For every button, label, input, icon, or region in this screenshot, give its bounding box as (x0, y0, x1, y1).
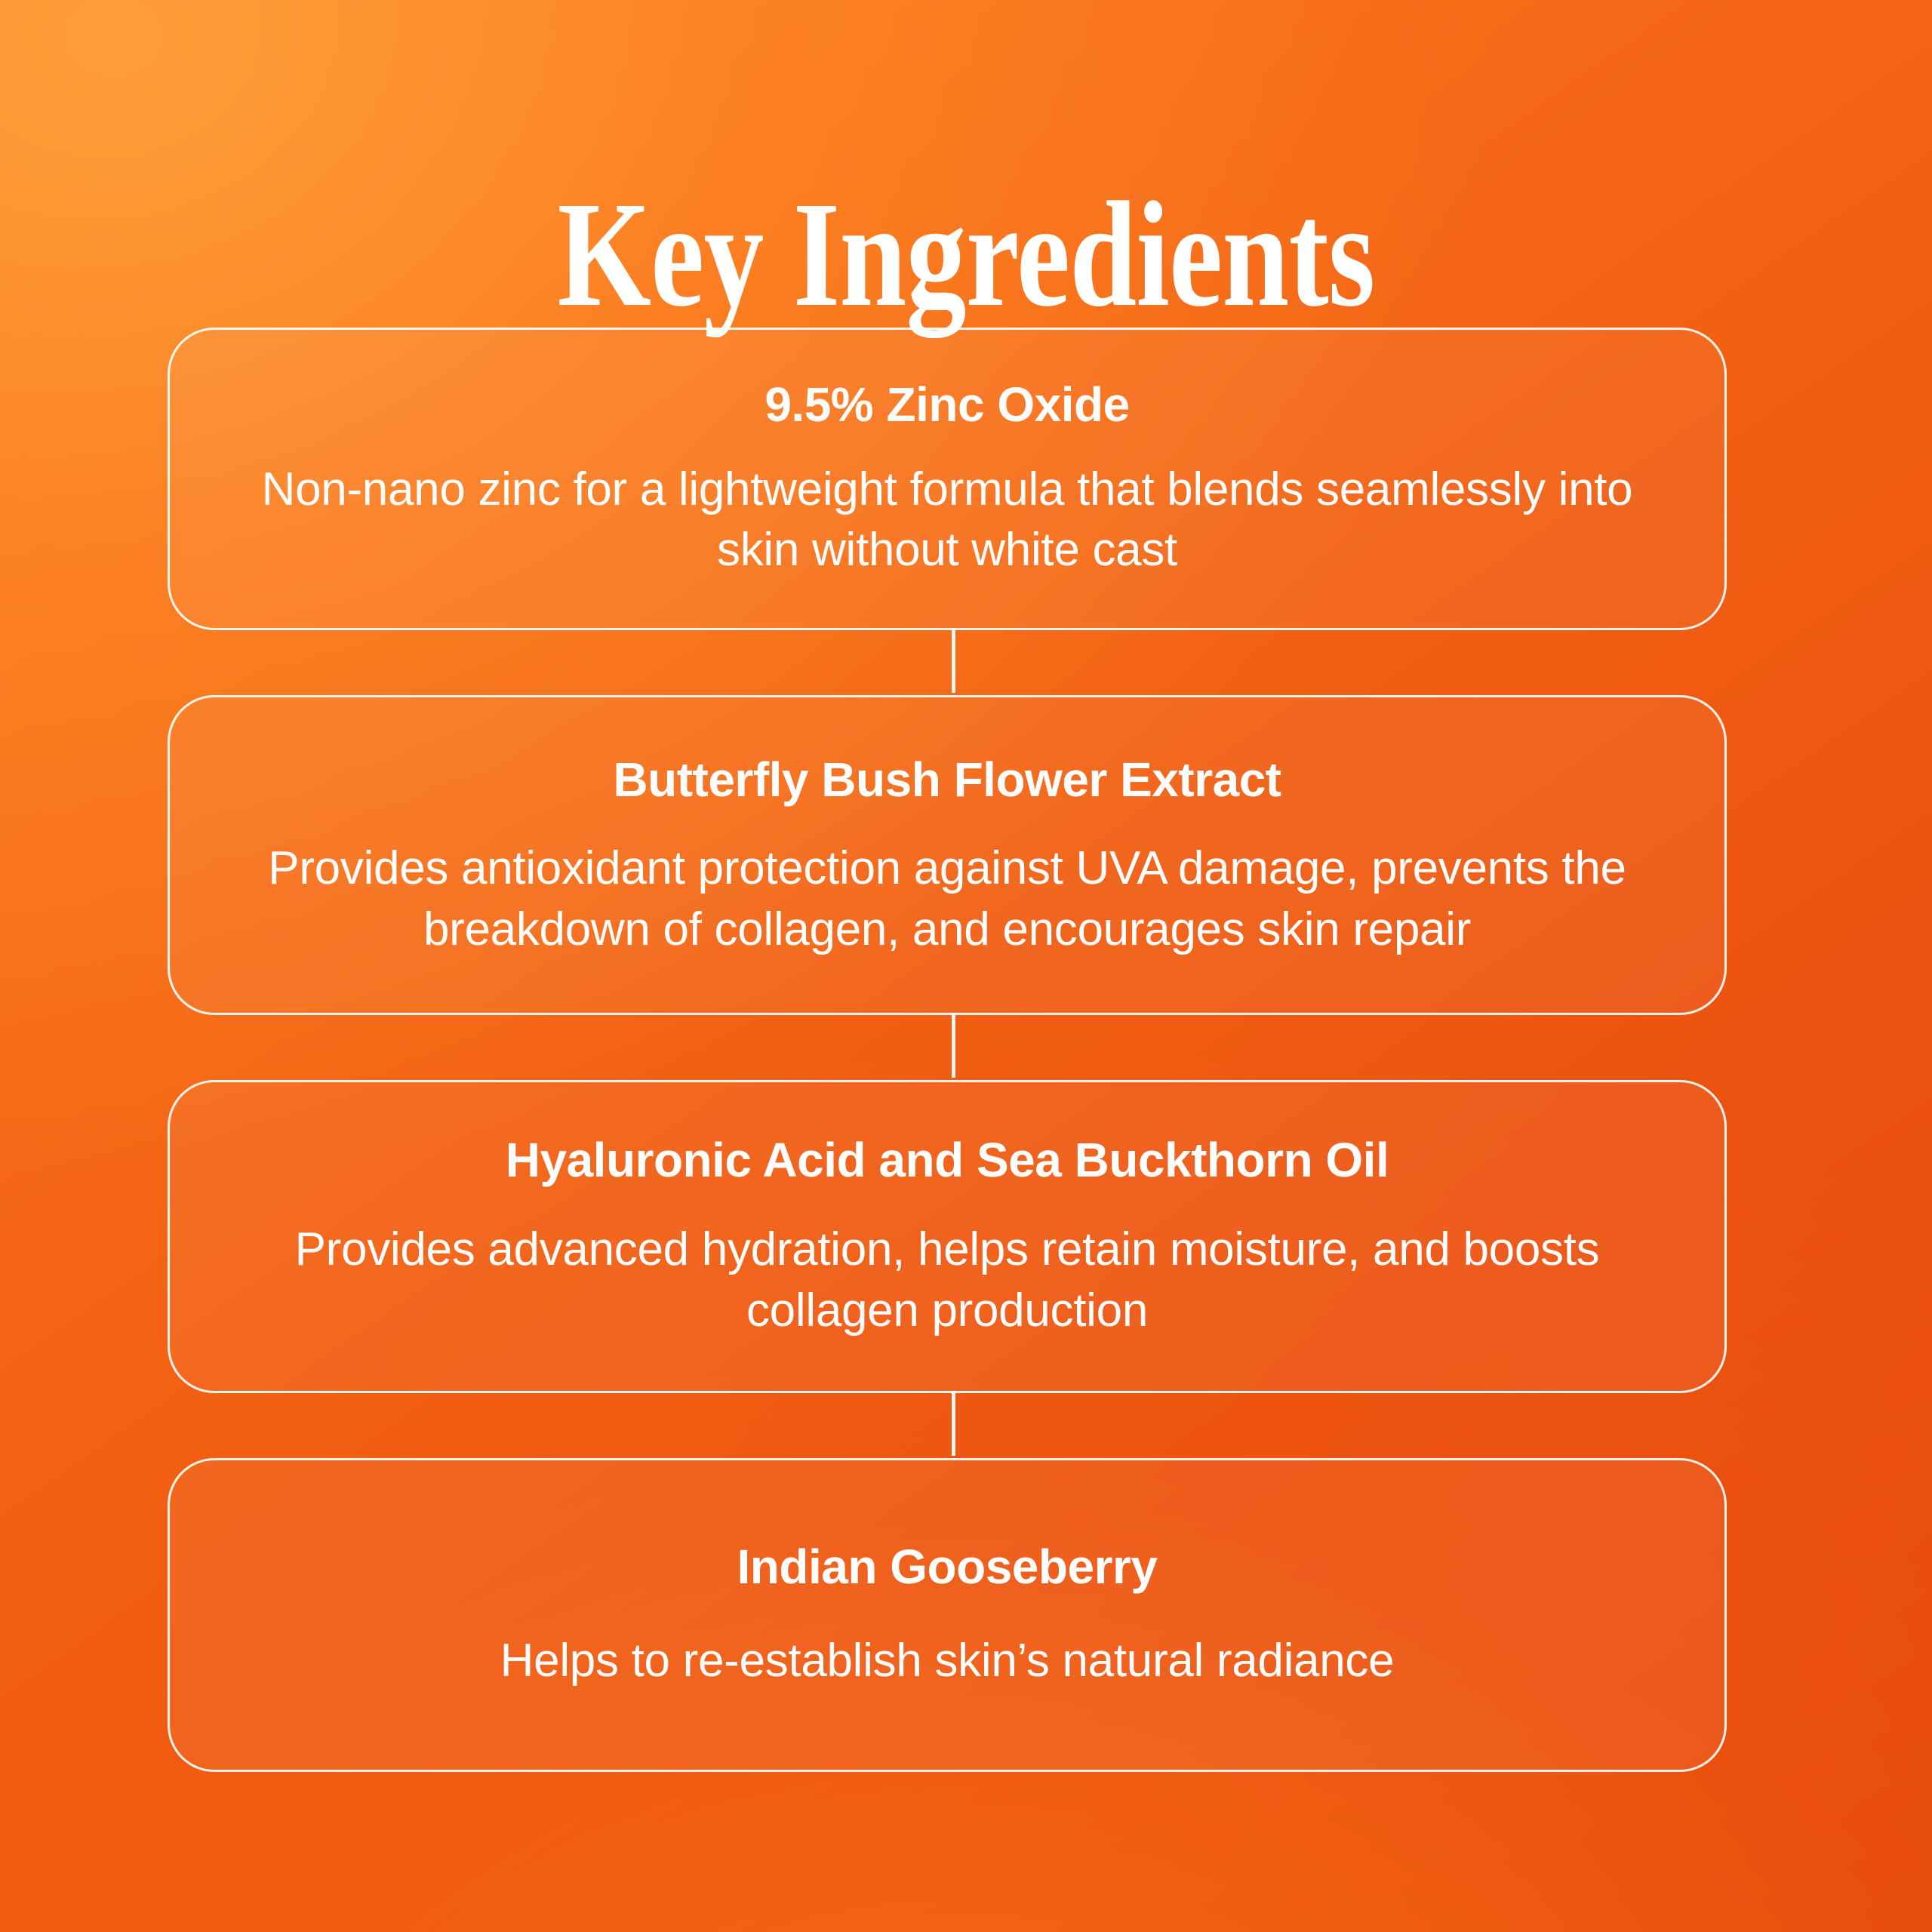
ingredient-description: Provides advanced hydration, helps retai… (253, 1220, 1641, 1341)
ingredient-card: Indian Gooseberry Helps to re-establish … (168, 1458, 1727, 1772)
ingredient-description: Helps to re-establish skin’s natural rad… (253, 1631, 1641, 1692)
ingredient-card: Butterfly Bush Flower Extract Provides a… (168, 695, 1727, 1016)
ingredient-card-stack: 9.5% Zinc Oxide Non-nano zinc for a ligh… (168, 328, 1727, 1772)
card-connector-line (952, 628, 955, 693)
ingredients-infographic: Key Ingredients 9.5% Zinc Oxide Non-nano… (0, 0, 1932, 1932)
ingredient-description: Provides antioxidant protection against … (253, 838, 1641, 960)
ingredient-description: Non-nano zinc for a lightweight formula … (253, 460, 1641, 581)
ingredient-heading: Indian Gooseberry (253, 1539, 1641, 1596)
ingredient-card: 9.5% Zinc Oxide Non-nano zinc for a ligh… (168, 328, 1727, 630)
ingredient-heading: Hyaluronic Acid and Sea Buckthorn Oil (253, 1132, 1641, 1189)
page-title: Key Ingredients (193, 174, 1739, 337)
ingredient-heading: 9.5% Zinc Oxide (253, 377, 1641, 434)
card-connector-line (952, 1013, 955, 1078)
ingredient-heading: Butterfly Bush Flower Extract (253, 752, 1641, 809)
card-connector-line (952, 1391, 955, 1456)
ingredient-card: Hyaluronic Acid and Sea Buckthorn Oil Pr… (168, 1080, 1727, 1393)
